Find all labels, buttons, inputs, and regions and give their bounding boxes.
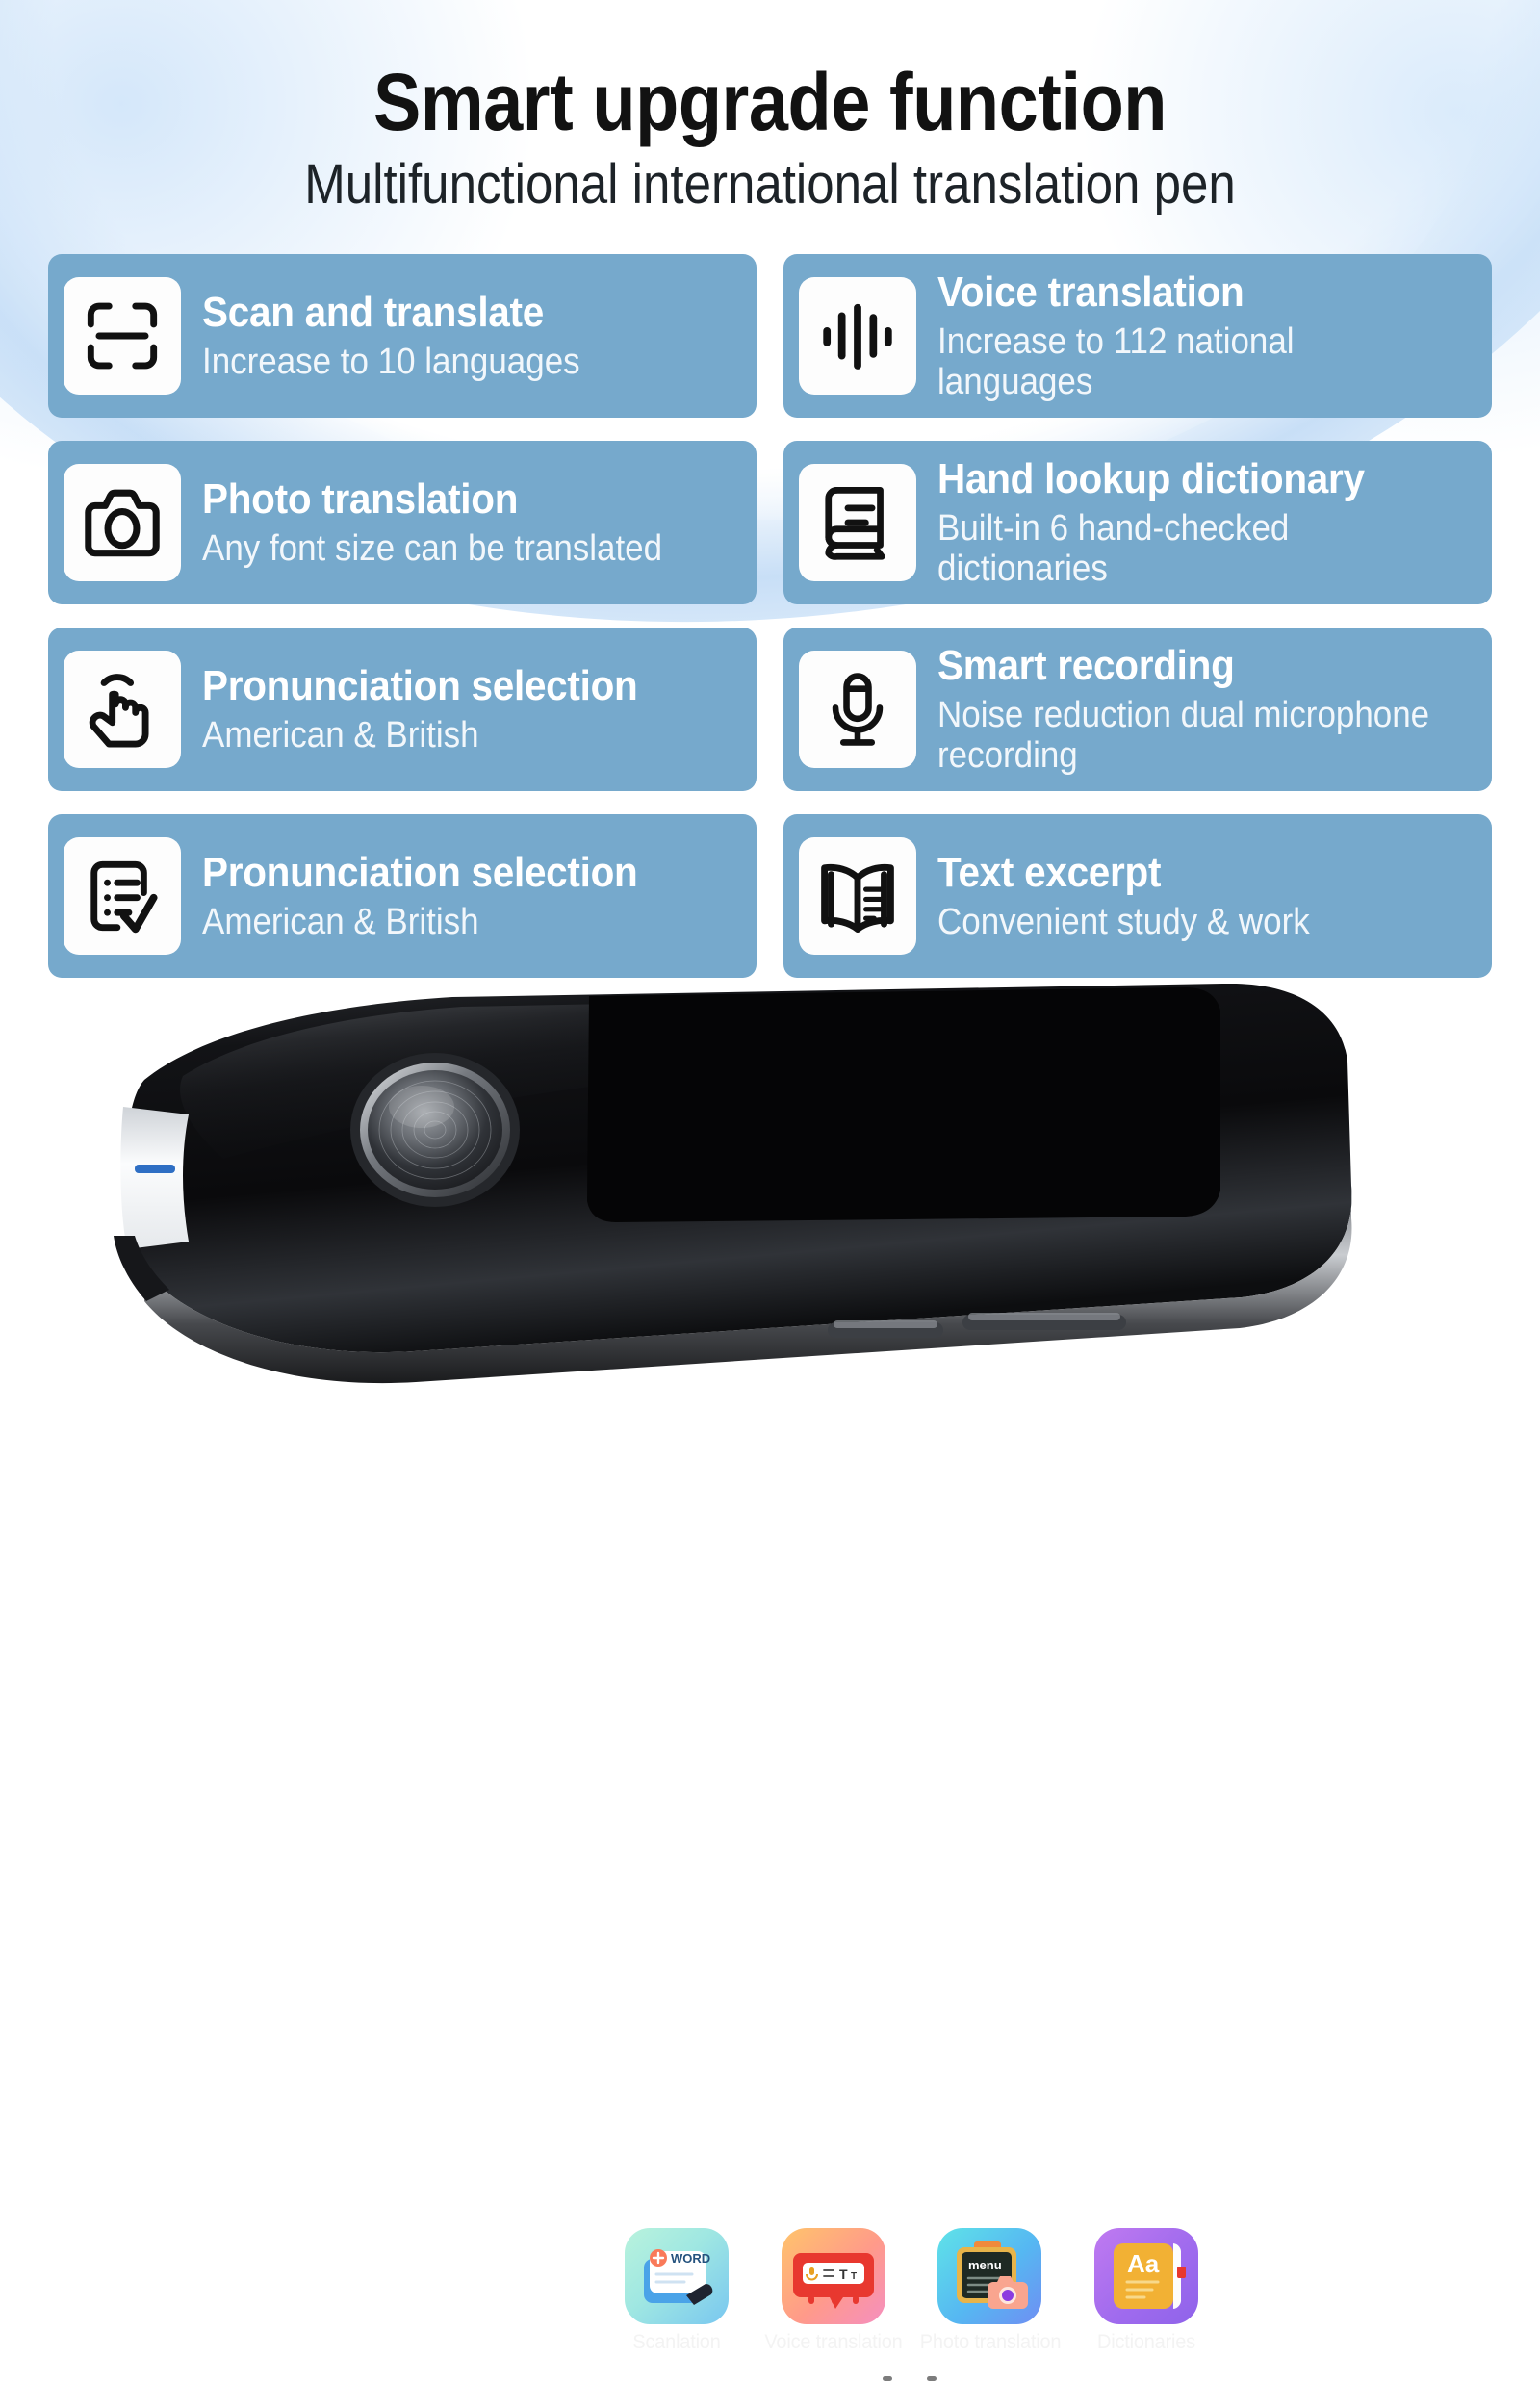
feature-card: Photo translationAny font size can be tr… — [48, 441, 757, 604]
feature-description: American & British — [202, 902, 696, 943]
pen-illustration — [0, 984, 1540, 1426]
translation-pen-device — [0, 984, 1540, 1426]
scroll-wheel-button — [350, 1053, 520, 1207]
menu-board-camera-icon[interactable]: menu — [937, 2228, 1041, 2324]
closed-book-icon — [799, 464, 916, 581]
feature-text: Smart recordingNoise reduction dual micr… — [937, 642, 1475, 777]
status-indicators — [1133, 2193, 1214, 2215]
tap-hand-icon — [64, 651, 181, 768]
feature-text: Scan and translateIncrease to 10 languag… — [202, 289, 739, 382]
aa-book-icon[interactable]: Aa — [1094, 2228, 1198, 2324]
feature-description: Noise reduction dual microphone recordin… — [937, 695, 1431, 777]
voice-waveform-icon — [799, 277, 916, 395]
battery-icon — [1175, 2193, 1214, 2215]
feature-grid: Scan and translateIncrease to 10 languag… — [48, 254, 1492, 978]
page-title: Smart upgrade function — [92, 60, 1448, 144]
feature-description: American & British — [202, 715, 696, 756]
header: Smart upgrade function Multifunctional i… — [0, 0, 1540, 216]
device-section: 08: 52 2020/12/2 Wednesday — [0, 1012, 1540, 1417]
scanner-tip — [120, 1107, 189, 1249]
app-label: Photo translation — [920, 2331, 1059, 2354]
screen-glass — [587, 987, 1220, 1222]
feature-text: Photo translationAny font size can be tr… — [202, 475, 739, 569]
device-screen[interactable]: 08: 52 2020/12/2 Wednesday — [592, 2182, 1227, 2408]
feature-title: Voice translation — [937, 270, 1431, 316]
app-label: Voice translation — [763, 2331, 902, 2354]
app-item[interactable]: menu Photo translation — [916, 2228, 1063, 2354]
app-item[interactable]: T T Voice translation — [760, 2228, 907, 2354]
scan-frame-icon — [64, 277, 181, 395]
word-card-pen-icon[interactable]: WORD — [625, 2228, 729, 2324]
page-dot[interactable] — [883, 2376, 892, 2381]
feature-title: Scan and translate — [202, 291, 696, 336]
feature-card: Smart recordingNoise reduction dual micr… — [783, 628, 1492, 791]
page-subtitle: Multifunctional international translatio… — [92, 154, 1448, 216]
feature-text: Text excerptConvenient study & work — [937, 849, 1475, 942]
app-item[interactable]: WORD Scanlation — [603, 2228, 750, 2354]
feature-text: Pronunciation selectionAmerican & Britis… — [202, 849, 739, 942]
app-item[interactable]: Aa Dictionaries — [1073, 2228, 1219, 2354]
app-label: Dictionaries — [1077, 2331, 1216, 2354]
feature-description: Built-in 6 hand-checked dictionaries — [937, 508, 1431, 590]
wifi-icon — [1133, 2193, 1162, 2215]
feature-title: Pronunciation selection — [202, 664, 696, 709]
feature-card: Pronunciation selectionAmerican & Britis… — [48, 814, 757, 978]
feature-title: Smart recording — [937, 644, 1431, 689]
svg-text:WORD: WORD — [671, 2251, 710, 2266]
feature-text: Pronunciation selectionAmerican & Britis… — [202, 662, 739, 756]
page-dot[interactable] — [927, 2376, 937, 2381]
feature-title: Text excerpt — [937, 851, 1431, 896]
side-button-2-highlight — [968, 1313, 1120, 1320]
page-dot[interactable] — [900, 2376, 919, 2381]
feature-description: Convenient study & work — [937, 902, 1431, 943]
svg-text:T: T — [839, 2267, 848, 2282]
status-date: 2020/12/2 Wednesday — [696, 2190, 927, 2217]
status-time: 08: 52 — [605, 2190, 673, 2217]
feature-card: Voice translationIncrease to 112 nationa… — [783, 254, 1492, 418]
svg-text:menu: menu — [968, 2258, 1002, 2272]
feature-card: Scan and translateIncrease to 10 languag… — [48, 254, 757, 418]
feature-title: Photo translation — [202, 477, 696, 523]
feature-text: Hand lookup dictionaryBuilt-in 6 hand-ch… — [937, 455, 1475, 590]
feature-card: Pronunciation selectionAmerican & Britis… — [48, 628, 757, 791]
speech-bubble-mic-icon[interactable]: T T — [782, 2228, 885, 2324]
app-grid: WORD Scanlation T T Voice translation m — [603, 2228, 1219, 2354]
feature-description: Increase to 10 languages — [202, 342, 696, 383]
status-bar: 08: 52 2020/12/2 Wednesday — [605, 2188, 1214, 2220]
page-indicator[interactable] — [592, 2376, 1227, 2381]
feature-text: Voice translationIncrease to 112 nationa… — [937, 269, 1475, 403]
svg-text:Aa: Aa — [1127, 2249, 1160, 2278]
scanner-tip-line — [135, 1165, 175, 1173]
svg-text:T: T — [851, 2271, 857, 2282]
feature-card: Text excerptConvenient study & work — [783, 814, 1492, 978]
feature-description: Any font size can be translated — [202, 528, 696, 570]
checklist-icon — [64, 837, 181, 955]
open-book-icon — [799, 837, 916, 955]
feature-title: Pronunciation selection — [202, 851, 696, 896]
feature-description: Increase to 112 national languages — [937, 321, 1431, 403]
side-button-1-highlight — [834, 1320, 937, 1328]
feature-title: Hand lookup dictionary — [937, 457, 1431, 502]
microphone-icon — [799, 651, 916, 768]
app-label: Scanlation — [607, 2331, 746, 2354]
camera-icon — [64, 464, 181, 581]
feature-card: Hand lookup dictionaryBuilt-in 6 hand-ch… — [783, 441, 1492, 604]
